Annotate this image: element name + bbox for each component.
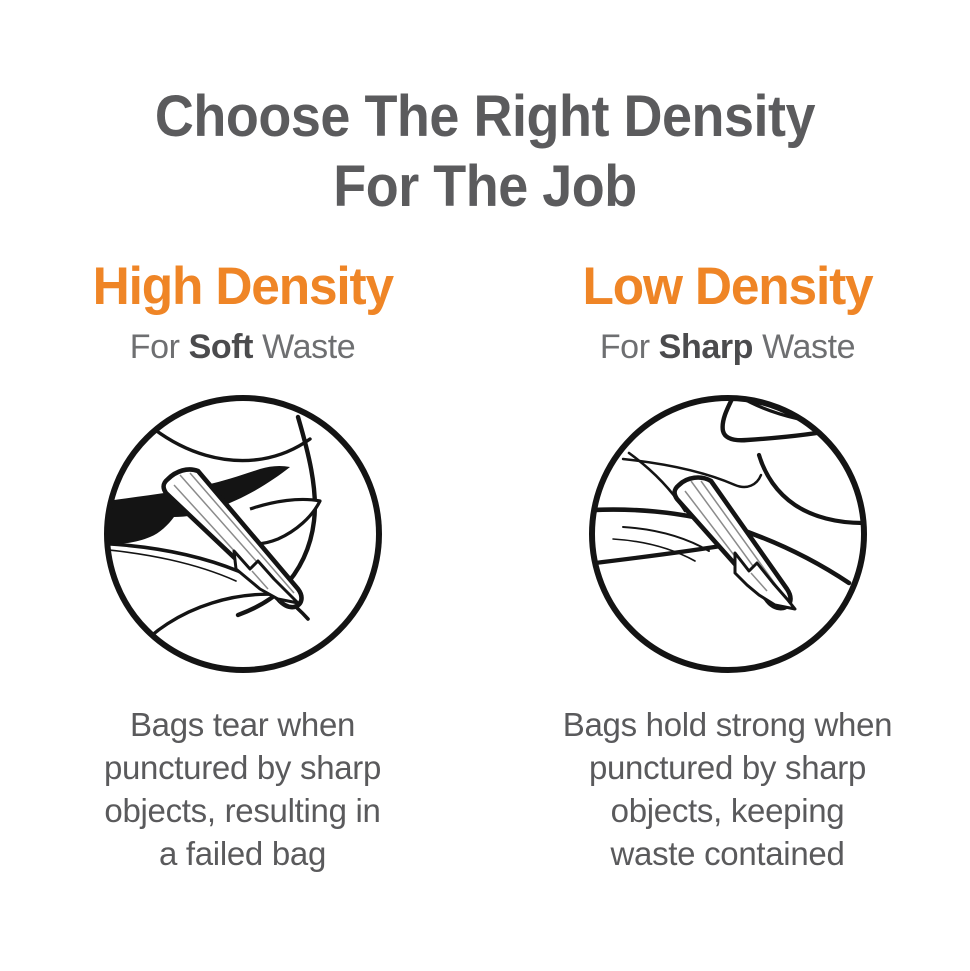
bag-band-bottom bbox=[132, 594, 298, 655]
high-density-caption: Bags tear when punctured by sharp object… bbox=[43, 703, 443, 875]
bag-fold-top bbox=[154, 429, 310, 461]
bag-band-lower-hint bbox=[102, 549, 236, 581]
low-density-caption-line-1: Bags hold strong when bbox=[528, 703, 928, 746]
low-density-caption-line-4: waste contained bbox=[528, 832, 928, 875]
low-density-caption-line-3: objects, keeping bbox=[528, 789, 928, 832]
bag-band-lower bbox=[587, 545, 727, 565]
column-low-density: Low Density For Sharp Waste bbox=[485, 258, 970, 875]
torn-bag-punctured-by-sharp-object-icon bbox=[102, 393, 384, 675]
high-density-caption-line-4: a failed bag bbox=[43, 832, 443, 875]
high-density-subhead-suffix: Waste bbox=[253, 328, 355, 366]
page-title-line-2: For The Job bbox=[34, 152, 936, 222]
high-density-caption-line-2: punctured by sharp bbox=[43, 746, 443, 789]
page-title-line-1: Choose The Right Density bbox=[34, 82, 936, 152]
low-density-subhead-prefix: For bbox=[600, 328, 659, 366]
high-density-caption-line-1: Bags tear when bbox=[43, 703, 443, 746]
column-high-density: High Density For Soft Waste bbox=[0, 258, 485, 875]
low-density-subhead-suffix: Waste bbox=[753, 328, 855, 366]
low-density-caption-line-2: punctured by sharp bbox=[528, 746, 928, 789]
high-density-subhead-accent: Soft bbox=[189, 328, 254, 366]
low-density-caption: Bags hold strong when punctured by sharp… bbox=[528, 703, 928, 875]
high-density-caption-line-3: objects, resulting in bbox=[43, 789, 443, 832]
page-title: Choose The Right Density For The Job bbox=[0, 82, 970, 222]
low-density-heading: Low Density bbox=[582, 258, 872, 316]
bag-band-hint-1 bbox=[623, 527, 709, 551]
low-density-subhead-accent: Sharp bbox=[659, 328, 753, 366]
high-density-heading: High Density bbox=[92, 258, 392, 316]
infographic-page: Choose The Right Density For The Job Hig… bbox=[0, 0, 970, 971]
intact-bag-resisting-sharp-object-icon bbox=[587, 393, 869, 675]
comparison-columns: High Density For Soft Waste bbox=[0, 258, 970, 875]
high-density-subhead: For Soft Waste bbox=[130, 327, 356, 367]
low-density-subhead: For Sharp Waste bbox=[600, 327, 855, 367]
high-density-subhead-prefix: For bbox=[130, 328, 189, 366]
